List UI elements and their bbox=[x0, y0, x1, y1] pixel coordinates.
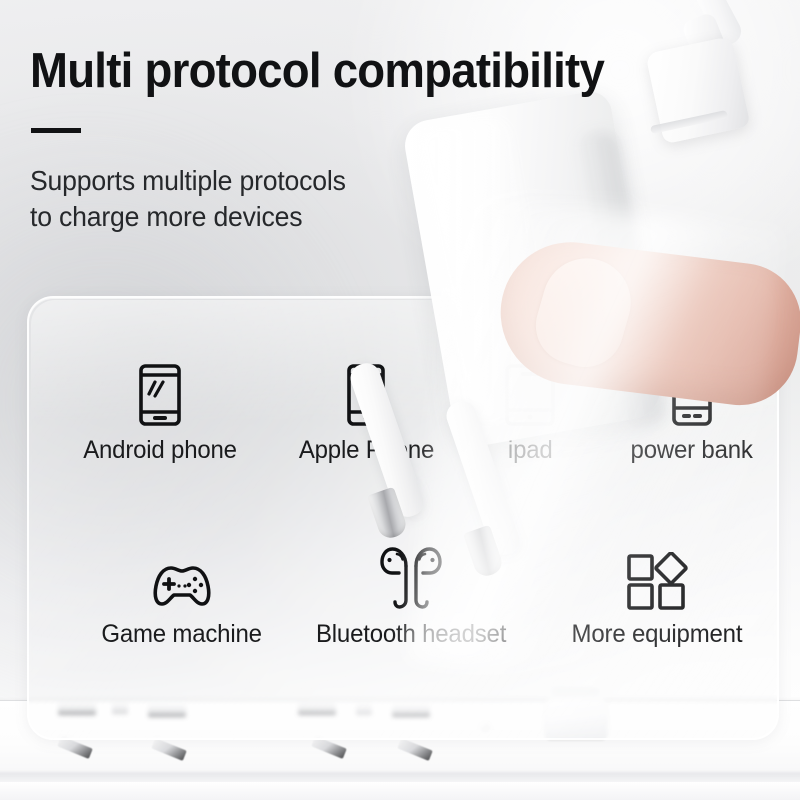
compat-item-label: Game machine bbox=[102, 620, 262, 649]
promo-banner: Android phone Apple Phone bbox=[0, 0, 800, 800]
power-strip-lip bbox=[0, 772, 800, 782]
compat-item-label: Apple Phone bbox=[298, 436, 433, 465]
subtitle-line-2: to charge more devices bbox=[30, 199, 346, 235]
power-strip-base-shadow bbox=[0, 782, 800, 800]
compat-item-android-phone[interactable]: Android phone bbox=[47, 358, 273, 465]
compat-item-label: Android phone bbox=[83, 436, 237, 465]
page-title: Multi protocol compatibility bbox=[30, 46, 604, 97]
title-accent-rule bbox=[31, 128, 81, 133]
foreground-light-sheen bbox=[406, 194, 783, 696]
apple-phone-icon bbox=[344, 358, 388, 426]
compat-item-game-machine[interactable]: Game machine bbox=[62, 542, 302, 649]
page-subtitle: Supports multiple protocols to charge mo… bbox=[30, 163, 346, 235]
game-controller-icon bbox=[149, 542, 215, 610]
subtitle-line-1: Supports multiple protocols bbox=[30, 163, 346, 199]
android-phone-icon bbox=[136, 358, 184, 426]
